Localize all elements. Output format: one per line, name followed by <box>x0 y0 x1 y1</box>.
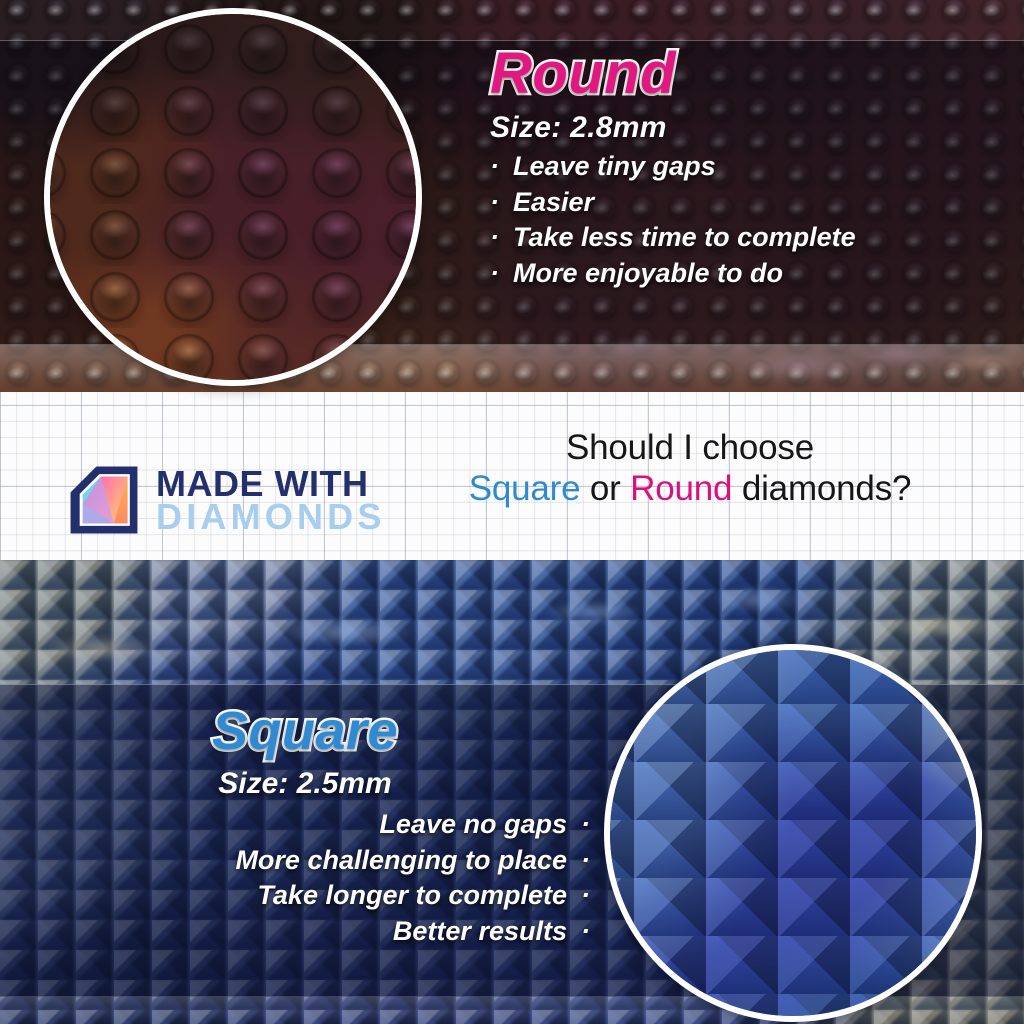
list-item: Take less time to complete <box>490 220 1010 256</box>
list-item: More enjoyable to do <box>490 256 1010 292</box>
round-title: Round <box>490 44 1010 103</box>
list-item: Leave tiny gaps <box>490 149 1010 185</box>
list-item: Easier <box>490 185 1010 221</box>
square-text-block: Square Size: 2.5mm Leave no gaps More ch… <box>20 704 590 950</box>
round-diamonds-closeup-circle <box>44 8 422 386</box>
square-closeup-color-wash <box>604 644 982 1022</box>
round-closeup-texture <box>44 8 422 386</box>
question-or-word: or <box>580 469 630 508</box>
square-bullet-list: Leave no gaps More challenging to place … <box>20 807 590 950</box>
brand-logo[interactable]: MADE WITH DIAMONDS <box>66 462 386 538</box>
square-title: Square <box>20 704 590 759</box>
question-tail-word: diamonds? <box>732 469 911 508</box>
list-item: Leave no gaps <box>20 807 590 843</box>
list-item: More challenging to place <box>20 843 590 879</box>
question-square-word: Square <box>469 469 581 508</box>
question-heading: Should I choose Square or Round diamonds… <box>410 428 970 510</box>
square-diamonds-closeup-circle <box>604 644 982 1022</box>
round-closeup-color-wash <box>44 8 422 386</box>
diamond-gem-icon <box>66 462 142 538</box>
infographic-canvas: Round Size: 2.8mm Leave tiny gaps Easier… <box>0 0 1024 1024</box>
list-item: Take longer to complete <box>20 878 590 914</box>
round-bullet-list: Leave tiny gaps Easier Take less time to… <box>490 149 1010 292</box>
question-round-word: Round <box>630 469 732 508</box>
round-text-block: Round Size: 2.8mm Leave tiny gaps Easier… <box>490 44 1010 292</box>
list-item: Better results <box>20 914 590 950</box>
question-line-1: Should I choose <box>410 428 970 469</box>
question-line-2: Square or Round diamonds? <box>410 469 970 510</box>
square-closeup-texture <box>604 644 982 1022</box>
round-size-label: Size: 2.8mm <box>490 111 1010 145</box>
brand-wordmark: MADE WITH DIAMONDS <box>156 467 386 533</box>
brand-line-2: DIAMONDS <box>156 500 386 533</box>
square-size-label: Size: 2.5mm <box>20 767 590 801</box>
